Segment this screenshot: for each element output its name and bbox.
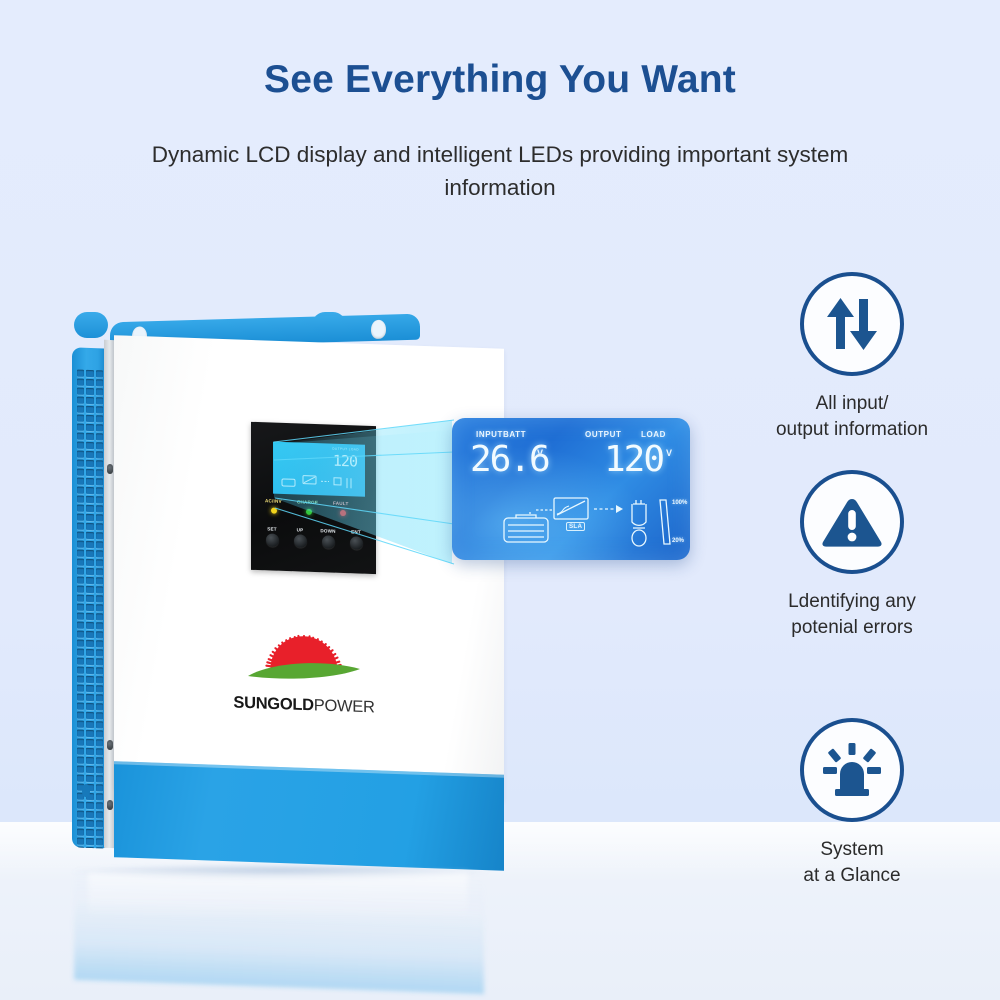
led-charge [306, 509, 312, 515]
lcd-output-value: 120 [604, 442, 663, 478]
feature-caption: All input/ output information [737, 391, 967, 443]
lcd-input-label: INPUTBATT [476, 430, 526, 439]
page-subtitle: Dynamic LCD display and intelligent LEDs… [140, 138, 860, 204]
feature-caption-line2: potenial errors [737, 615, 967, 641]
feature-caption-line1: Ldentifying any [737, 589, 967, 615]
down-button-label: DOWN [315, 528, 341, 534]
led-indicator-row: AC/INV CHARGE FAULT [259, 498, 369, 524]
up-button-cap[interactable] [294, 534, 307, 547]
page-title: See Everything You Want [0, 58, 1000, 102]
lcd-input-unit: V [537, 448, 543, 458]
bracket-tab-left [74, 312, 108, 338]
feature-caption-line2: output information [737, 417, 967, 443]
chassis-screw [107, 740, 113, 750]
power-flow-graphic [500, 496, 688, 554]
ent-button-cap[interactable] [350, 536, 363, 549]
magnified-lcd-display: INPUTBATT 26.6 V OUTPUT LOAD 120 V [452, 418, 690, 560]
lcd-load-label: LOAD [641, 430, 666, 439]
lcd-load-max-pct: 100% [672, 500, 687, 506]
feature-caption: Ldentifying any potenial errors [737, 589, 967, 641]
button-row: SET UP DOWN ENT [259, 526, 371, 564]
brand-logo: SUNGOLDPOWER [230, 631, 378, 717]
down-button[interactable]: DOWN [315, 528, 341, 549]
product-feature-banner: See Everything You Want Dynamic LCD disp… [0, 0, 1000, 1000]
lcd-power-flow-diagram: SLA 100% 20% [500, 496, 688, 554]
feature-icon-circle [800, 470, 904, 574]
led-label-ac-inv: AC/INV [265, 498, 282, 504]
set-button-label: SET [259, 526, 285, 532]
feature-caption-line1: System [737, 837, 967, 863]
lcd-load-min-pct: 20% [672, 538, 684, 544]
feature-caption-line2: at a Glance [737, 863, 967, 889]
device-lcd-screen: OUTPUT LOAD 120 [273, 442, 365, 497]
beacon-light-icon [821, 741, 883, 799]
set-button[interactable]: SET [259, 526, 285, 547]
feature-icon-circle [800, 718, 904, 822]
lcd-battery-type-tag: SLA [566, 522, 585, 531]
sungold-sun-graphic [244, 632, 364, 698]
brand-bold: SUNGOLD [233, 694, 313, 715]
led-label-charge: CHARGE [297, 499, 318, 505]
inverter-device: OUTPUT LOAD 120 AC/INV CHARGE FAUL [62, 312, 532, 872]
led-fault [340, 510, 346, 516]
side-ventilation-panel [72, 347, 108, 848]
feature-error-identification: Ldentifying any potenial errors [737, 470, 967, 641]
control-panel: OUTPUT LOAD 120 AC/INV CHARGE FAUL [251, 422, 376, 574]
feature-system-glance: System at a Glance [737, 718, 967, 889]
feature-caption: System at a Glance [737, 837, 967, 889]
up-button[interactable]: UP [287, 527, 313, 548]
up-down-arrows-icon [823, 295, 881, 353]
vent-bottom-notch [82, 784, 90, 797]
mini-lcd-value: 120 [333, 452, 357, 471]
lcd-output-unit: V [666, 448, 672, 458]
set-button-cap[interactable] [266, 533, 279, 546]
feature-input-output: All input/ output information [737, 272, 967, 443]
brand-light: POWER [314, 696, 375, 716]
chassis-screw [107, 800, 113, 810]
lcd-output-label: OUTPUT [585, 430, 622, 439]
lcd-content: INPUTBATT 26.6 V OUTPUT LOAD 120 V [452, 418, 690, 560]
ent-button[interactable]: ENT [343, 529, 369, 550]
device-reflection-highlight [88, 872, 468, 920]
led-label-fault: FAULT [333, 501, 348, 507]
feature-caption-line1: All input/ [737, 391, 967, 417]
mount-keyhole-right [371, 320, 386, 339]
chassis-screw [107, 464, 113, 474]
down-button-cap[interactable] [322, 535, 335, 548]
led-ac-inv [271, 508, 277, 514]
warning-triangle-icon [821, 493, 883, 551]
up-button-label: UP [287, 527, 313, 533]
device-bottom-panel [114, 761, 504, 871]
feature-icon-circle [800, 272, 904, 376]
vent-hole-grid [77, 370, 103, 811]
ent-button-label: ENT [343, 529, 369, 535]
mini-lcd-diagram [281, 474, 361, 491]
